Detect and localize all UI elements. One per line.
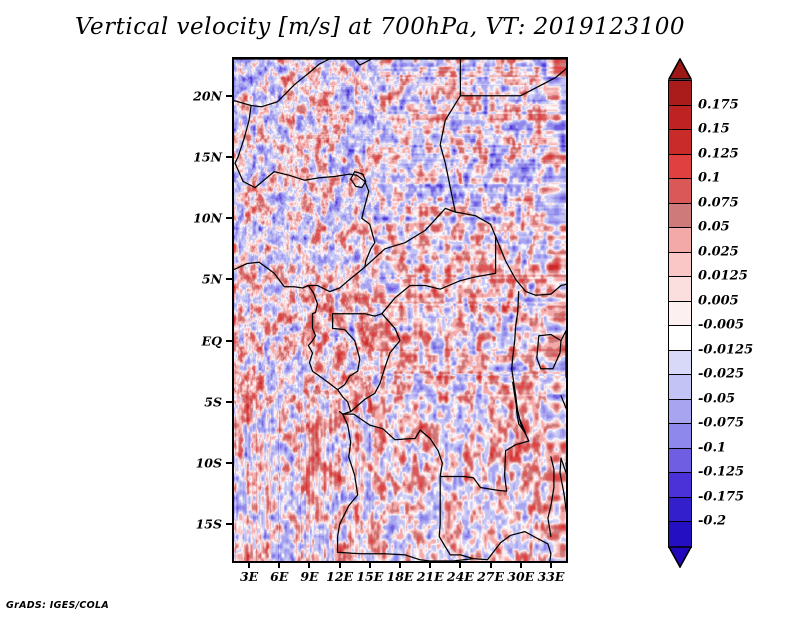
x-axis-tick [369, 562, 371, 568]
colorbar-band [668, 301, 692, 327]
colorbar-tick-label: -0.025 [698, 367, 744, 382]
y-axis-tick-label: 10S [0, 456, 222, 471]
colorbar-tick-label: -0.0125 [698, 342, 753, 357]
x-axis-tick-label: 15E [356, 569, 383, 584]
x-axis-tick-label: 6E [270, 569, 288, 584]
y-axis-tick-label: 5N [0, 272, 222, 287]
colorbar-tick-label: 0.05 [698, 220, 730, 235]
x-axis-tick-label: 12E [326, 569, 353, 584]
colorbar-band [668, 178, 692, 204]
y-axis-tick [226, 401, 232, 403]
colorbar-band [668, 423, 692, 449]
colorbar-tick-label: -0.1 [698, 440, 726, 455]
y-axis-tick-label: 15N [0, 149, 222, 164]
colorbar-tick-label: 0.1 [698, 171, 721, 186]
colorbar-tick-label: 0.15 [698, 122, 730, 137]
y-axis-tick [226, 278, 232, 280]
page-title: Vertical velocity [m/s] at 700hPa, VT: 2… [0, 14, 760, 40]
colorbar-band [668, 374, 692, 400]
colorbar-tick-label: -0.175 [698, 489, 744, 504]
colorbar-band [668, 105, 692, 131]
colorbar-tick-label: 0.125 [698, 146, 739, 161]
colorbar-tick-label: -0.05 [698, 391, 735, 406]
colorbar-band [668, 227, 692, 253]
x-axis-tick [339, 562, 341, 568]
colorbar-band [668, 399, 692, 425]
country-borders-overlay [234, 59, 566, 561]
x-axis-tick-label: 21E [417, 569, 444, 584]
colorbar-band [668, 203, 692, 229]
colorbar-band [668, 325, 692, 351]
x-axis-tick [248, 562, 250, 568]
x-axis-tick-label: 24E [447, 569, 474, 584]
y-axis-tick-label: 20N [0, 88, 222, 103]
colorbar-band [668, 497, 692, 523]
colorbar-band [668, 350, 692, 376]
x-axis-tick-label: 33E [537, 569, 564, 584]
x-axis-tick [399, 562, 401, 568]
x-axis-tick [278, 562, 280, 568]
colorbar-tick-label: 0.005 [698, 293, 739, 308]
y-axis-tick [226, 340, 232, 342]
x-axis-tick-label: 9E [300, 569, 318, 584]
colorbar-tick-label: -0.005 [698, 318, 744, 333]
colorbar-tick-label: -0.075 [698, 416, 744, 431]
colorbar-band [668, 521, 692, 547]
colorbar-band [668, 80, 692, 106]
colorbar-band [668, 154, 692, 180]
x-axis-tick [550, 562, 552, 568]
y-axis-tick-label: 15S [0, 517, 222, 532]
y-axis-tick [226, 523, 232, 525]
x-axis-tick-label: 18E [387, 569, 414, 584]
x-axis-tick [459, 562, 461, 568]
colorbar-band [668, 276, 692, 302]
colorbar-tick-label: -0.2 [698, 514, 726, 529]
y-axis-tick [226, 462, 232, 464]
x-axis-tick [308, 562, 310, 568]
y-axis-tick [226, 156, 232, 158]
x-axis-tick-label: 27E [477, 569, 504, 584]
colorbar-band [668, 129, 692, 155]
x-axis-tick [429, 562, 431, 568]
y-axis-tick [226, 95, 232, 97]
colorbar-tick-label: 0.0125 [698, 269, 748, 284]
colorbar-tick-label: 0.025 [698, 244, 739, 259]
y-axis-tick [226, 217, 232, 219]
x-axis-tick [520, 562, 522, 568]
colorbar-tick-label: 0.175 [698, 97, 739, 112]
colorbar-cap-max [668, 58, 692, 80]
x-axis-tick-label: 30E [507, 569, 534, 584]
colorbar-band [668, 448, 692, 474]
map-plot-area [232, 57, 568, 563]
colorbar-band [668, 472, 692, 498]
y-axis-tick-label: 10N [0, 211, 222, 226]
footer-credit: GrADS: IGES/COLA [6, 600, 109, 611]
colorbar-tick-label: -0.125 [698, 465, 744, 480]
colorbar-band [668, 252, 692, 278]
colorbar-tick-label: 0.075 [698, 195, 739, 210]
x-axis-tick [490, 562, 492, 568]
y-axis-tick-label: EQ [0, 333, 222, 348]
y-axis-tick-label: 5S [0, 394, 222, 409]
colorbar: 0.1750.150.1250.10.0750.050.0250.01250.0… [668, 58, 692, 568]
colorbar-cap-min [668, 546, 692, 568]
x-axis-tick-label: 3E [240, 569, 258, 584]
